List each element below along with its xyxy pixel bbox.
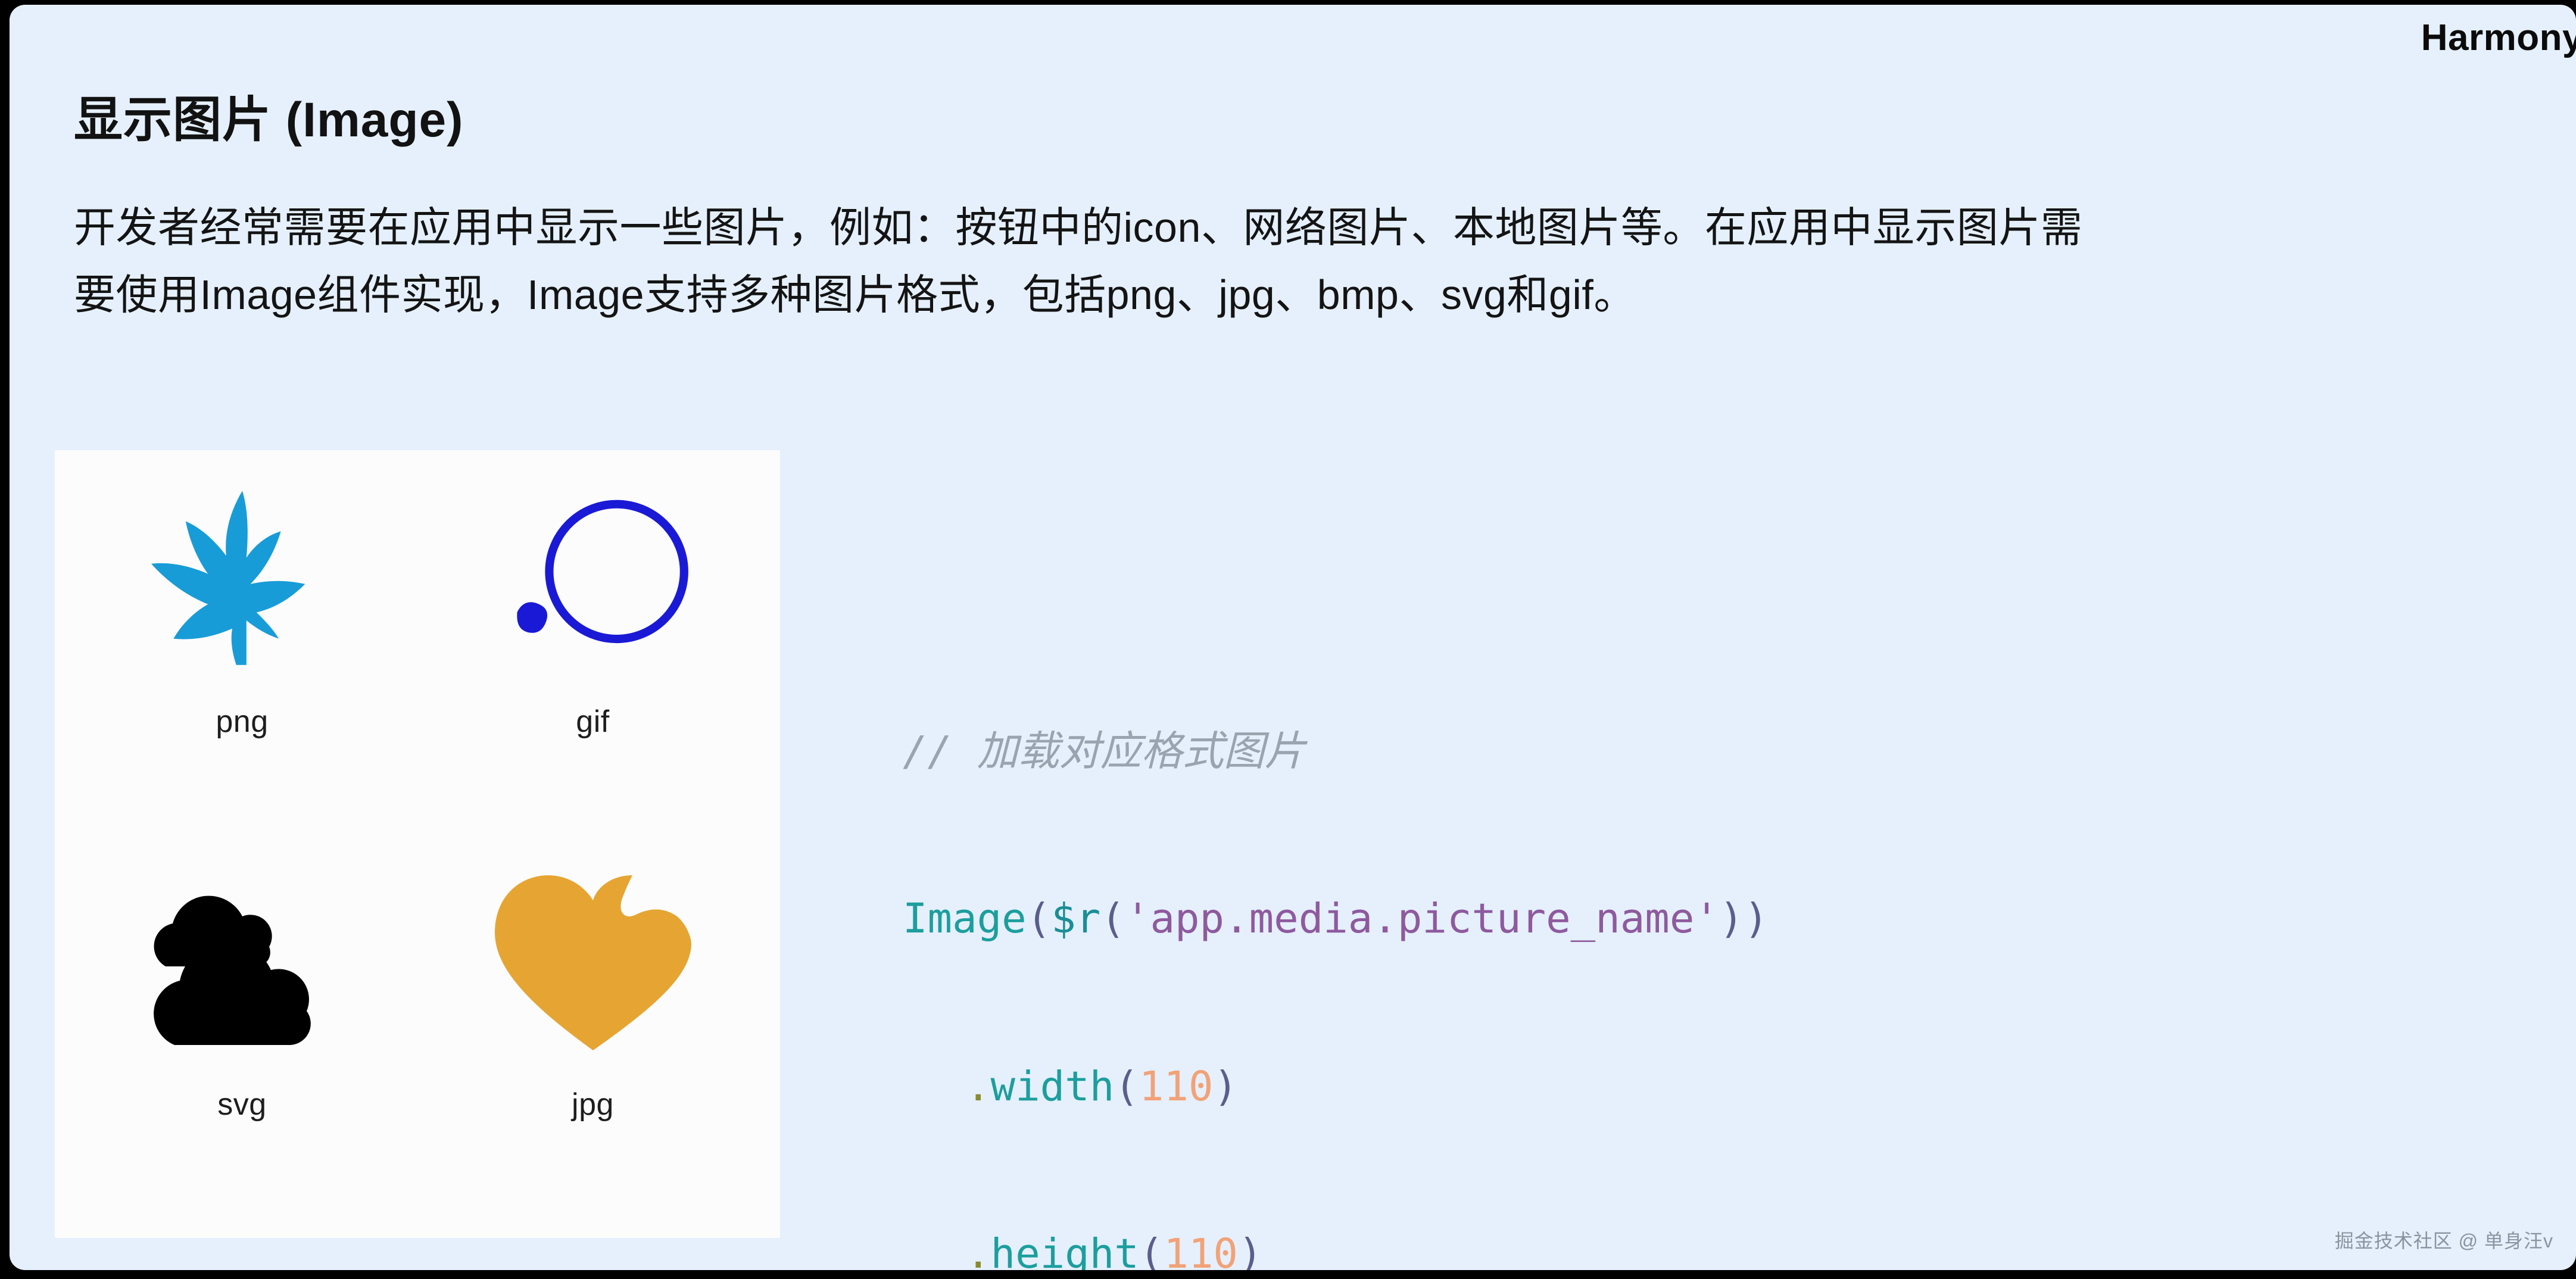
clouds-icon xyxy=(135,868,350,1058)
image-sample-jpg: jpg xyxy=(417,844,768,1227)
image-sample-grid: png gif xyxy=(55,450,780,1238)
code-line-comment: // 加载对应格式图片 xyxy=(903,724,1769,780)
brand-label: Harmony xyxy=(2421,17,2576,59)
code-value-width: 110 xyxy=(1139,1063,1214,1110)
image-sample-gif: gif xyxy=(417,461,768,844)
code-paren-close-height: ) xyxy=(1238,1230,1263,1270)
code-paren-open-2: ( xyxy=(1100,895,1125,943)
intro-line-2: 要使用Image组件实现，Image支持多种图片格式，包括png、jpg、bmp… xyxy=(74,261,2539,329)
code-dot-width: . xyxy=(966,1063,991,1110)
maple-leaf-art xyxy=(67,461,417,699)
heart-icon xyxy=(486,865,700,1061)
code-value-height: 110 xyxy=(1164,1230,1238,1270)
slide: Harmony 显示图片 (Image) 开发者经常需要在应用中显示一些图片，例… xyxy=(10,5,2576,1270)
image-sample-label: png xyxy=(216,704,268,740)
image-sample-label: gif xyxy=(576,704,609,740)
clouds-art xyxy=(67,844,417,1082)
image-sample-label: svg xyxy=(217,1087,266,1122)
code-string-resource: 'app.media.picture_name' xyxy=(1125,895,1719,943)
image-sample-svg: svg xyxy=(67,844,417,1227)
code-comment: // 加载对应格式图片 xyxy=(903,728,1306,775)
intro-paragraph: 开发者经常需要在应用中显示一些图片，例如：按钮中的icon、网络图片、本地图片等… xyxy=(74,194,2539,329)
code-method-height: height xyxy=(991,1230,1139,1270)
heart-art xyxy=(417,844,768,1082)
circle-outline-icon xyxy=(492,491,694,669)
image-sample-card: png gif xyxy=(55,450,780,1238)
code-dot-height: . xyxy=(966,1230,991,1270)
code-fn-image: Image xyxy=(903,895,1027,943)
code-paren-open-1: ( xyxy=(1027,895,1052,943)
maple-leaf-icon xyxy=(141,479,344,681)
code-snippet: // 加载对应格式图片 Image($r('app.media.picture_… xyxy=(903,612,1769,1270)
code-ident-r: $r xyxy=(1051,895,1100,943)
code-line-width: .width(110) xyxy=(903,1059,1769,1115)
watermark: 掘金技术社区 @ 单身汪v xyxy=(2335,1226,2553,1253)
code-paren-close-width: ) xyxy=(1213,1063,1238,1110)
code-paren-open-height: ( xyxy=(1139,1230,1164,1270)
code-line-image: Image($r('app.media.picture_name')) xyxy=(903,891,1769,947)
code-method-width: width xyxy=(991,1063,1115,1110)
code-paren-close-1: )) xyxy=(1719,895,1769,943)
image-sample-png: png xyxy=(67,461,417,844)
circle-outline-art xyxy=(417,461,768,699)
code-paren-open-width: ( xyxy=(1114,1063,1139,1110)
code-line-height: .height(110) xyxy=(903,1227,1769,1270)
intro-line-1: 开发者经常需要在应用中显示一些图片，例如：按钮中的icon、网络图片、本地图片等… xyxy=(74,194,2539,261)
image-sample-label: jpg xyxy=(572,1087,614,1122)
page-title: 显示图片 (Image) xyxy=(74,80,463,151)
